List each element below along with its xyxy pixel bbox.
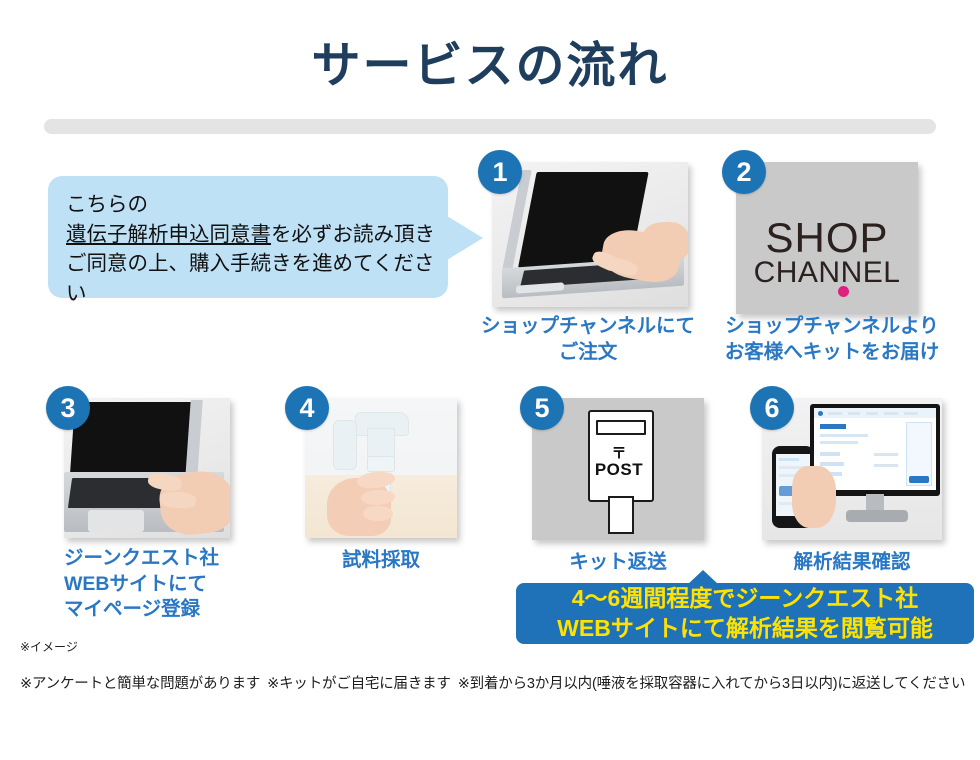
step-6-caption-line1: 解析結果確認 <box>750 550 954 576</box>
step-3-caption-line1: ジーンクエスト社 <box>64 546 264 572</box>
step-4: 4 試料採取 <box>285 386 485 586</box>
consent-document-link[interactable]: 遺伝子解析申込同意書 <box>66 223 271 246</box>
step-4-caption: 試料採取 <box>285 548 477 574</box>
step-3-badge: 3 <box>46 386 90 430</box>
step-5-badge: 5 <box>520 386 564 430</box>
step-3-image <box>64 398 230 538</box>
footer-note-1: ※アンケートと簡単な問題があります <box>20 676 260 692</box>
step-2-badge: 2 <box>722 150 766 194</box>
consent-line-2-rest: を必ずお読み頂き <box>271 223 435 246</box>
image-disclaimer-note: ※イメージ <box>20 638 78 655</box>
step-2-caption: ショップチャンネルより お客様へキットをお届け <box>704 314 960 365</box>
step-6-badge: 6 <box>750 386 794 430</box>
shop-channel-dot-icon <box>838 286 849 297</box>
step-3-caption-line3: マイページ登録 <box>64 597 264 623</box>
service-flow-page: サービスの流れ こちらの 遺伝子解析申込同意書を必ずお読み頂き ご同意の上、購入… <box>0 0 980 760</box>
post-label: POST <box>588 460 650 480</box>
step-2-caption-line2: お客様へキットをお届け <box>704 340 960 366</box>
step-2-image: SHOP CHANNEL <box>736 162 918 314</box>
step-1-caption-line1: ショップチャンネルにて <box>450 314 726 340</box>
step-1-badge: 1 <box>478 150 522 194</box>
footer-notes: ※アンケートと簡単な問題があります※キットがご自宅に届きます※到着から3か月以内… <box>20 672 975 693</box>
step-5: 〒 POST 5 キット返送 <box>520 386 720 586</box>
shop-channel-logo: SHOP CHANNEL <box>736 214 918 290</box>
step-1-caption-line2: ご注文 <box>450 340 726 366</box>
step-1: 1 ショップチャンネルにて ご注文 <box>478 150 698 360</box>
result-availability-banner: 4〜6週間程度でジーンクエスト社 WEBサイトにて解析結果を閲覧可能 <box>516 583 974 644</box>
step-2-caption-line1: ショップチャンネルより <box>704 314 960 340</box>
consent-notice-text: こちらの 遺伝子解析申込同意書を必ずお読み頂き ご同意の上、購入手続きを進めてく… <box>66 190 436 309</box>
step-6: 6 解析結果確認 <box>750 386 960 586</box>
consent-line-1: こちらの <box>66 190 436 220</box>
footer-note-2: ※キットがご自宅に届きます <box>267 676 451 692</box>
banner-line-2: WEBサイトにて解析結果を閲覧可能 <box>557 614 933 643</box>
step-3: 3 ジーンクエスト社 WEBサイトにて マイページ登録 <box>46 386 266 626</box>
footer-note-3: ※到着から3か月以内(唾液を採取容器に入れてから3日以内)に返送してください <box>458 676 966 692</box>
consent-line-3: ご同意の上、購入手続きを進めてください <box>66 249 436 308</box>
post-symbol-icon: 〒 <box>588 446 650 461</box>
shop-channel-logo-top: SHOP <box>765 214 888 262</box>
step-2: SHOP CHANNEL 2 ショップチャンネルより お客様へキットをお届け <box>722 150 942 360</box>
step-3-caption: ジーンクエスト社 WEBサイトにて マイページ登録 <box>64 546 264 623</box>
consent-line-2: 遺伝子解析申込同意書を必ずお読み頂き <box>66 220 436 250</box>
step-1-image <box>492 162 688 307</box>
step-4-image <box>305 398 457 538</box>
step-4-badge: 4 <box>285 386 329 430</box>
step-6-caption: 解析結果確認 <box>750 550 954 576</box>
laptop-trackpad-photo-art <box>64 398 230 538</box>
shop-channel-logo-art: SHOP CHANNEL <box>736 162 918 314</box>
step-3-caption-line2: WEBサイトにて <box>64 572 264 598</box>
consent-notice-bubble: こちらの 遺伝子解析申込同意書を必ずお読み頂き ご同意の上、購入手続きを進めてく… <box>48 176 448 298</box>
step-1-caption: ショップチャンネルにて ご注文 <box>450 314 726 365</box>
step-4-caption-line1: 試料採取 <box>285 548 477 574</box>
title-divider-bar <box>44 119 936 134</box>
saliva-kit-photo-art <box>305 398 457 538</box>
banner-line-1: 4〜6週間程度でジーンクエスト社 <box>557 584 933 613</box>
laptop-typing-photo-art <box>492 162 688 307</box>
page-title: サービスの流れ <box>0 40 980 94</box>
